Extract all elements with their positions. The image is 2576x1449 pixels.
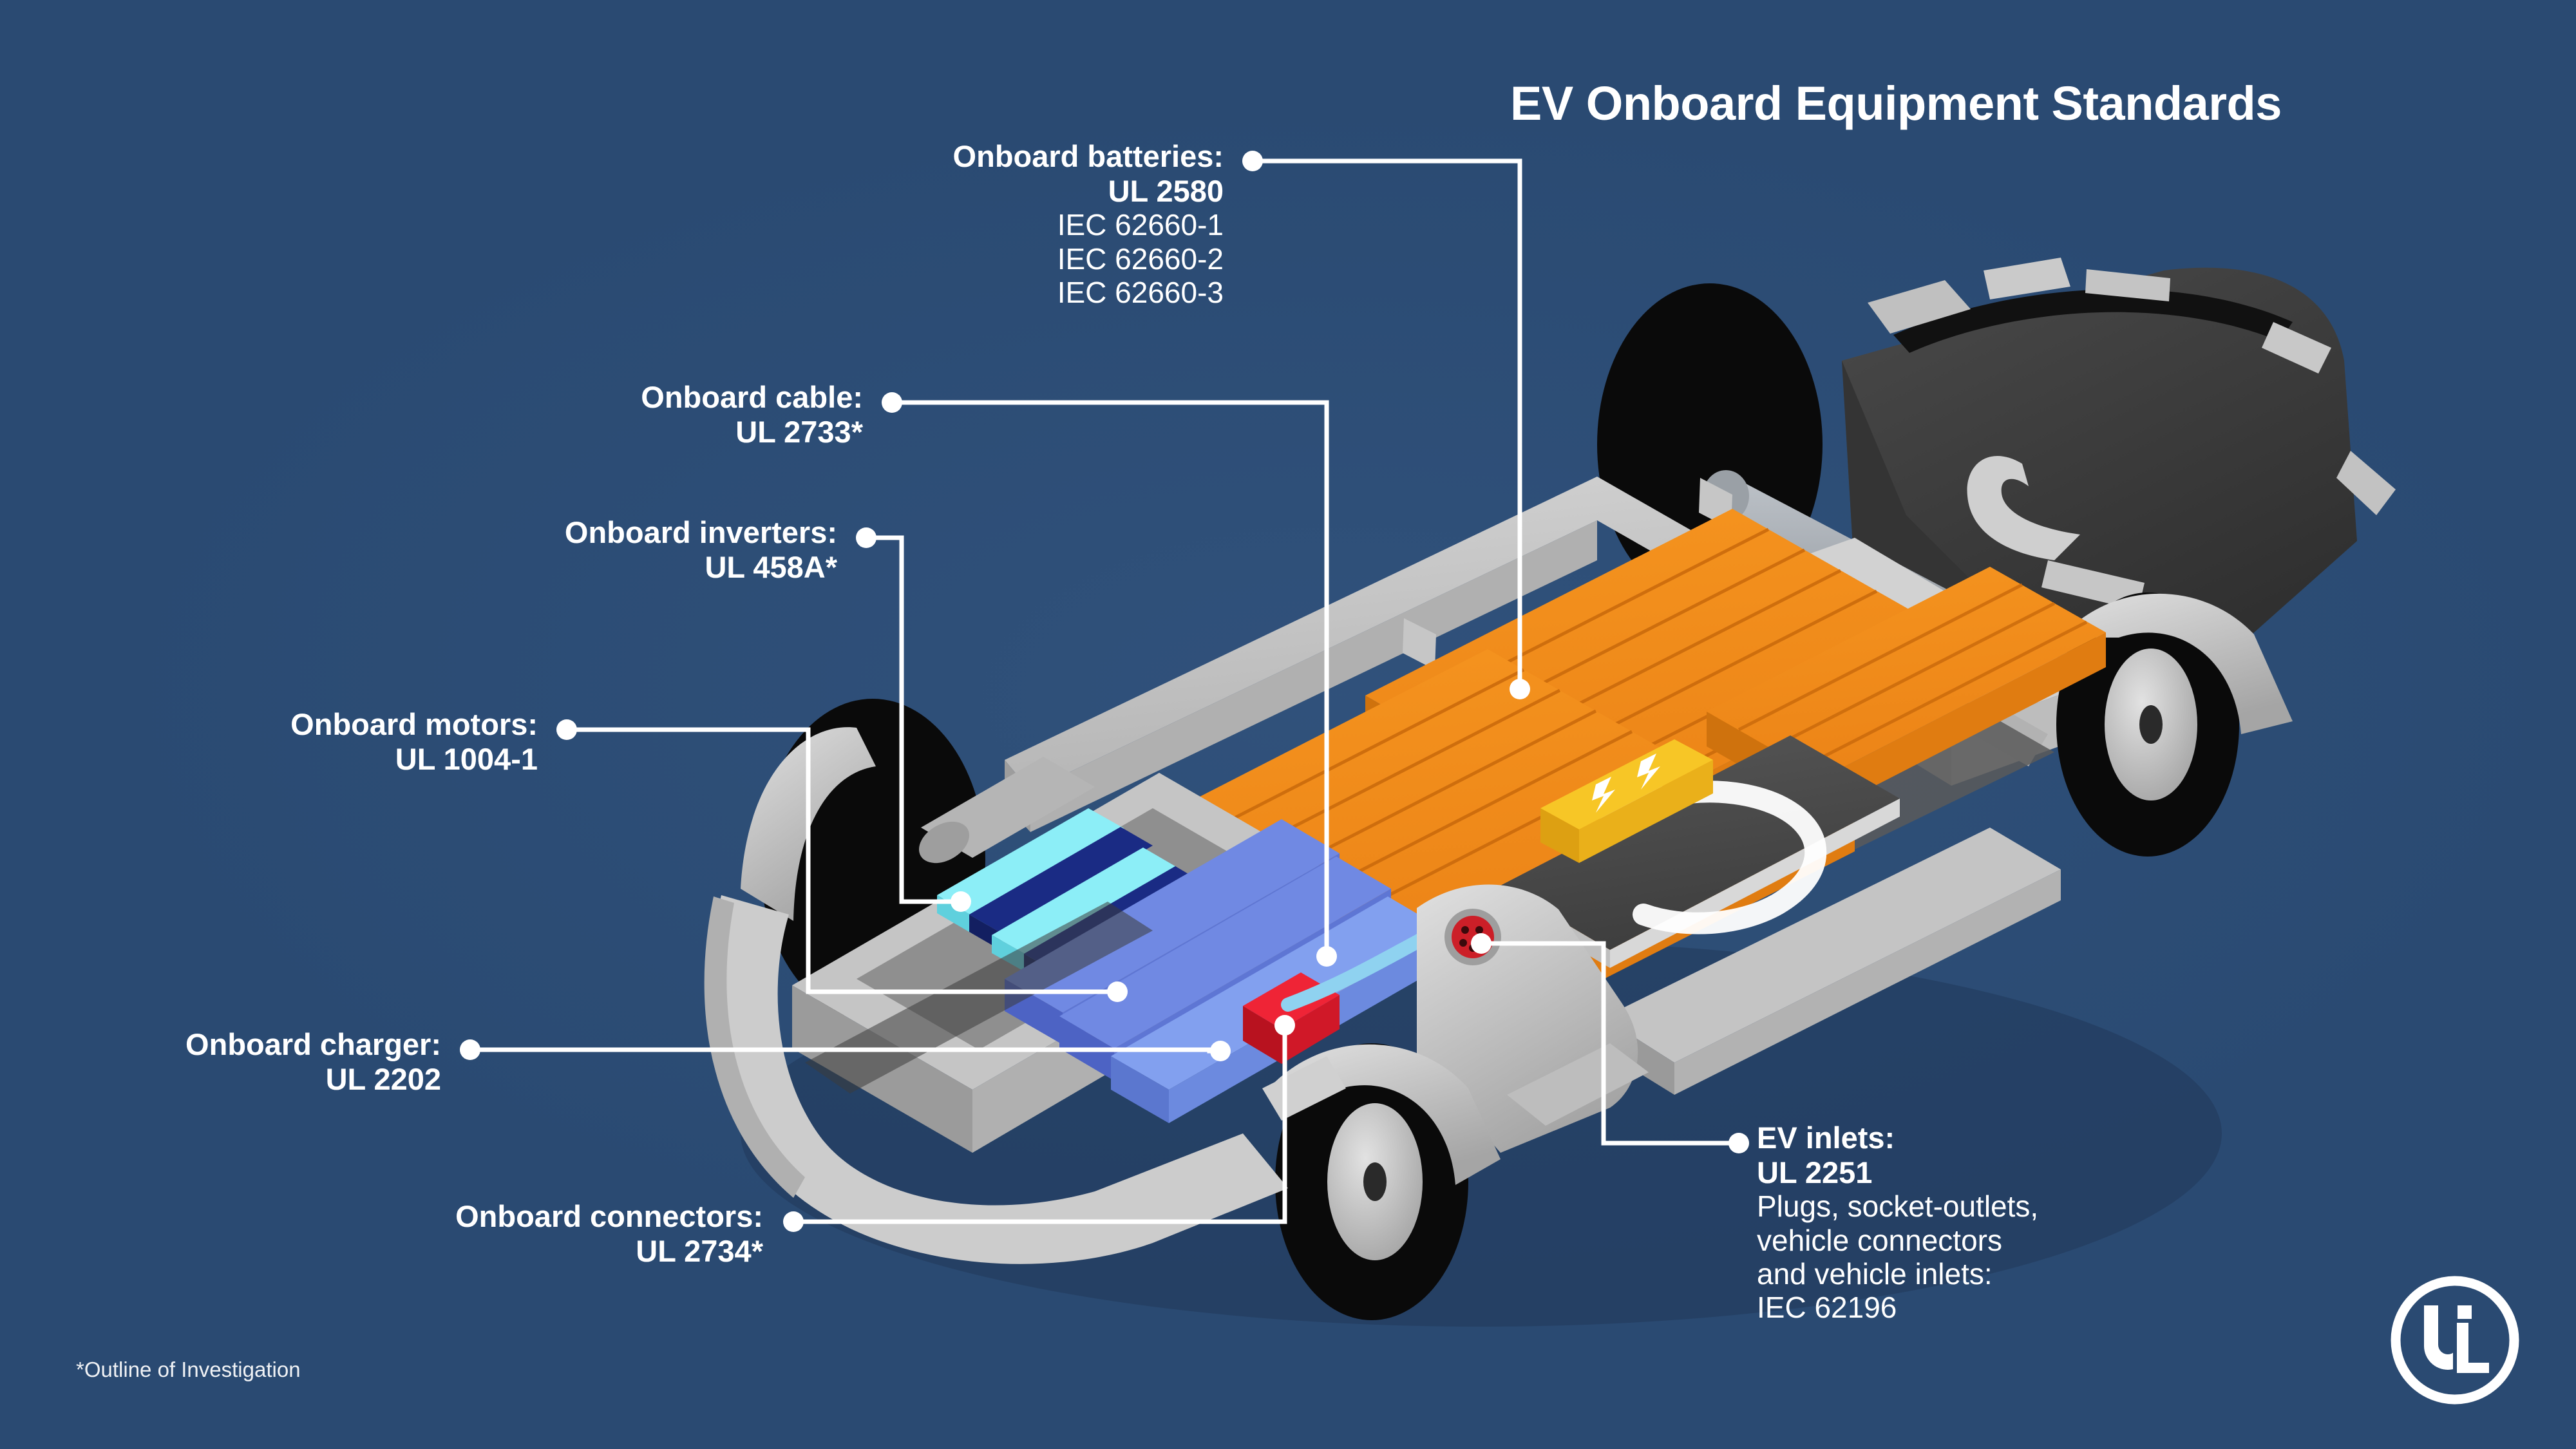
label-cable-standard: UL 2733* (258, 415, 863, 450)
label-charger: Onboard charger: UL 2202 (0, 1027, 441, 1096)
leader-inverters (856, 527, 971, 912)
label-batteries: Onboard batteries: UL 2580 IEC 62660-1 I… (580, 139, 1224, 309)
label-connectors: Onboard connectors: UL 2734* (161, 1199, 763, 1268)
label-inverters-head: Onboard inverters: (232, 515, 837, 550)
leader-charger (460, 1039, 1231, 1061)
label-inverters-standard: UL 458A* (232, 550, 837, 585)
label-batteries-sub-1: IEC 62660-1 (580, 208, 1224, 241)
label-cable-head: Onboard cable: (258, 380, 863, 415)
label-inlets-sub-3: and vehicle inlets: (1757, 1257, 2038, 1291)
label-connectors-head: Onboard connectors: (161, 1199, 763, 1234)
label-motors-head: Onboard motors: (0, 707, 538, 742)
page-title: EV Onboard Equipment Standards (1510, 76, 2282, 131)
label-motors-standard: UL 1004-1 (0, 742, 538, 777)
label-connectors-standard: UL 2734* (161, 1234, 763, 1269)
label-batteries-sub-2: IEC 62660-2 (580, 242, 1224, 276)
infographic-canvas: EV Onboard Equipment Standards Onboard b… (0, 0, 2576, 1449)
label-inlets-sub-1: Plugs, socket-outlets, (1757, 1189, 2038, 1223)
label-inlets-sub-4: IEC 62196 (1757, 1291, 2038, 1324)
leader-cable (882, 392, 1337, 967)
label-inlets: EV inlets: UL 2251 Plugs, socket-outlets… (1757, 1121, 2038, 1325)
leader-motors (556, 719, 1128, 1002)
label-motors: Onboard motors: UL 1004-1 (0, 707, 538, 776)
ul-logo (2387, 1272, 2523, 1408)
label-batteries-sub-3: IEC 62660-3 (580, 276, 1224, 309)
label-cable: Onboard cable: UL 2733* (258, 380, 863, 449)
label-charger-head: Onboard charger: (0, 1027, 441, 1062)
label-inlets-head: EV inlets: (1757, 1121, 2038, 1155)
label-batteries-head: Onboard batteries: (580, 139, 1224, 174)
label-inlets-standard: UL 2251 (1757, 1155, 2038, 1190)
leader-inlets (1471, 933, 1749, 1153)
label-batteries-standard: UL 2580 (580, 174, 1224, 209)
footnote: *Outline of Investigation (76, 1358, 301, 1382)
label-inverters: Onboard inverters: UL 458A* (232, 515, 837, 584)
label-charger-standard: UL 2202 (0, 1062, 441, 1097)
leader-batteries (1242, 151, 1530, 699)
label-inlets-sub-2: vehicle connectors (1757, 1224, 2038, 1257)
